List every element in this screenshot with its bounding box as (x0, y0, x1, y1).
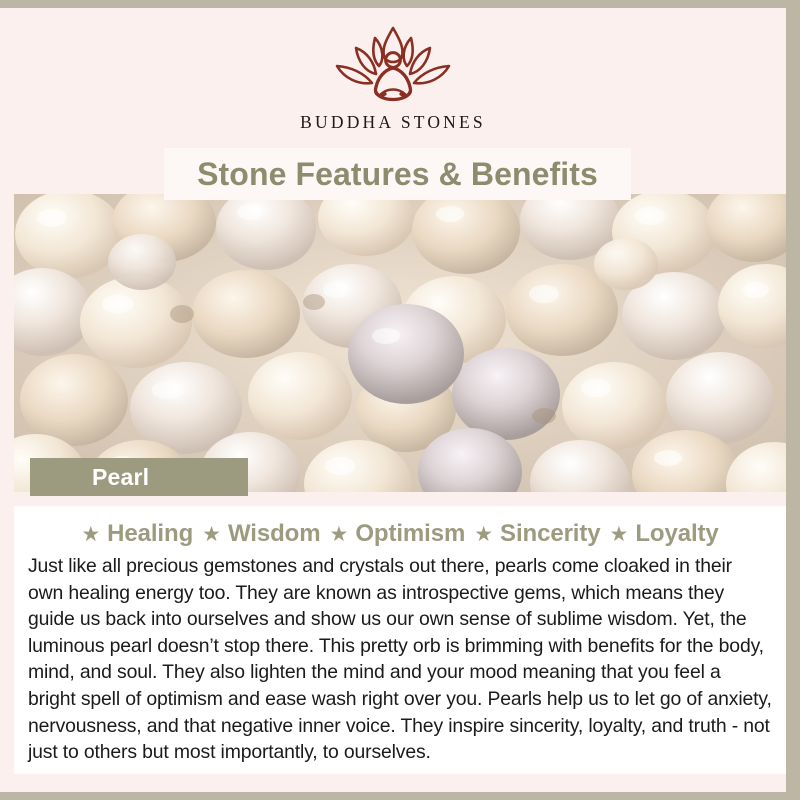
benefits-panel: ★ Healing ★ Wisdom ★ Optimism ★ Sincerit… (14, 506, 786, 774)
keyword-item-optimism: ★ Optimism (329, 520, 465, 548)
star-icon: ★ (610, 524, 629, 545)
stone-name-label: Pearl (30, 458, 248, 496)
star-icon: ★ (202, 524, 221, 545)
section-title-banner: Stone Features & Benefits (164, 148, 631, 200)
hero-image-pearls (14, 194, 786, 492)
keyword-item-loyalty: ★ Loyalty (610, 520, 719, 548)
page-surface: BUDDHA STONES (0, 8, 786, 792)
keyword-label: Healing (107, 520, 193, 548)
stone-name-text: Pearl (92, 464, 149, 491)
keyword-item-healing: ★ Healing (81, 520, 193, 548)
keyword-item-sincerity: ★ Sincerity (474, 520, 600, 548)
infographic-card: BUDDHA STONES (0, 0, 800, 800)
lotus-meditation-figure-icon (318, 22, 468, 110)
star-icon: ★ (474, 524, 493, 545)
keyword-list: ★ Healing ★ Wisdom ★ Optimism ★ Sincerit… (28, 516, 772, 552)
keyword-label: Sincerity (500, 520, 600, 548)
star-icon: ★ (329, 524, 348, 545)
star-icon: ★ (81, 524, 100, 545)
keyword-label: Optimism (355, 520, 465, 548)
page-title: Stone Features & Benefits (197, 156, 598, 193)
keyword-item-wisdom: ★ Wisdom (202, 520, 320, 548)
keyword-label: Wisdom (228, 520, 321, 548)
benefits-description: Just like all precious gemstones and cry… (28, 553, 772, 766)
keyword-label: Loyalty (635, 520, 718, 548)
brand-name: BUDDHA STONES (300, 112, 486, 133)
